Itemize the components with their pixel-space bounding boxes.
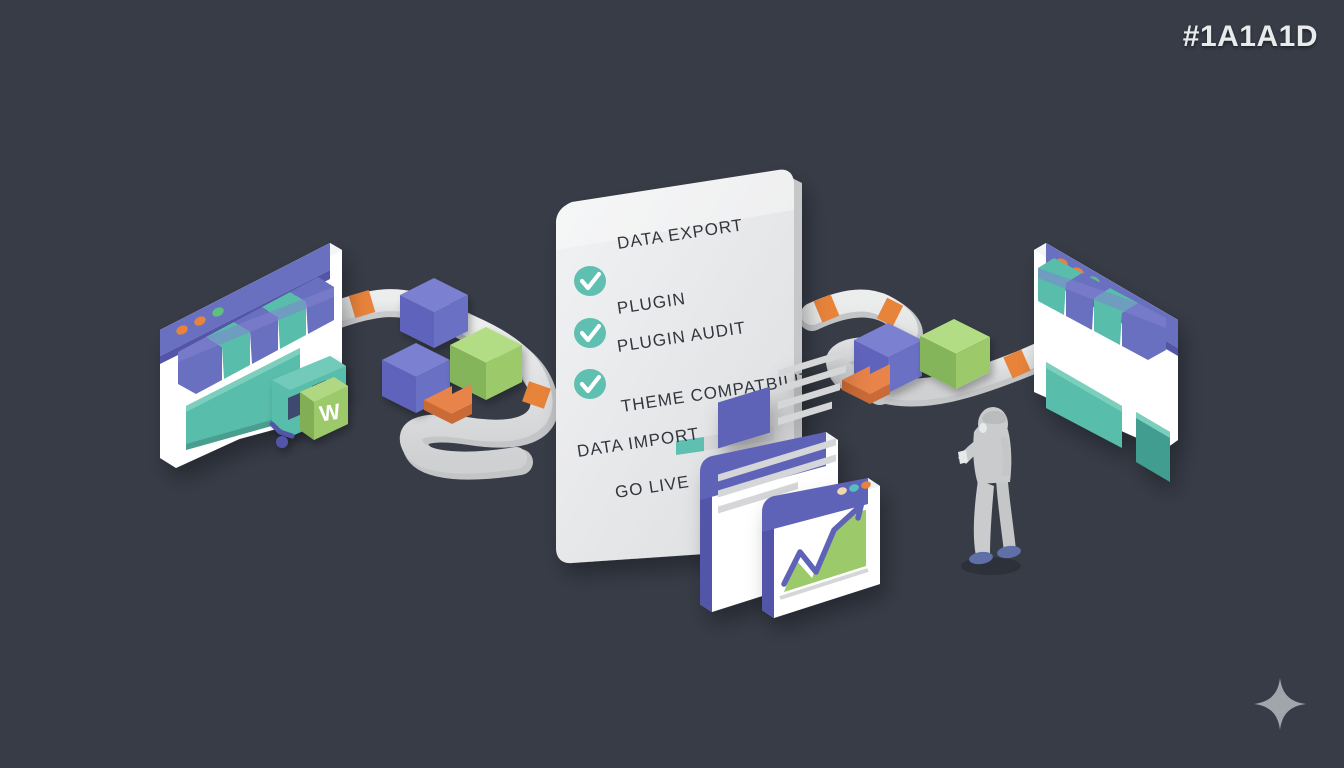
pipe-band bbox=[352, 301, 372, 307]
shoe-right bbox=[996, 544, 1021, 559]
person-figure bbox=[958, 407, 1022, 575]
target-storefront-window[interactable] bbox=[1034, 243, 1178, 482]
analytics-preview-card[interactable] bbox=[762, 478, 880, 618]
sparkle-icon bbox=[1252, 676, 1308, 732]
illustration-canvas: W bbox=[0, 0, 1344, 768]
pipe-band bbox=[1008, 360, 1026, 368]
pipe-band bbox=[818, 305, 835, 312]
color-hex-label: #1A1A1D bbox=[1183, 20, 1318, 54]
pipe-band bbox=[882, 308, 898, 316]
woocommerce-badge-letter: W bbox=[318, 399, 343, 427]
